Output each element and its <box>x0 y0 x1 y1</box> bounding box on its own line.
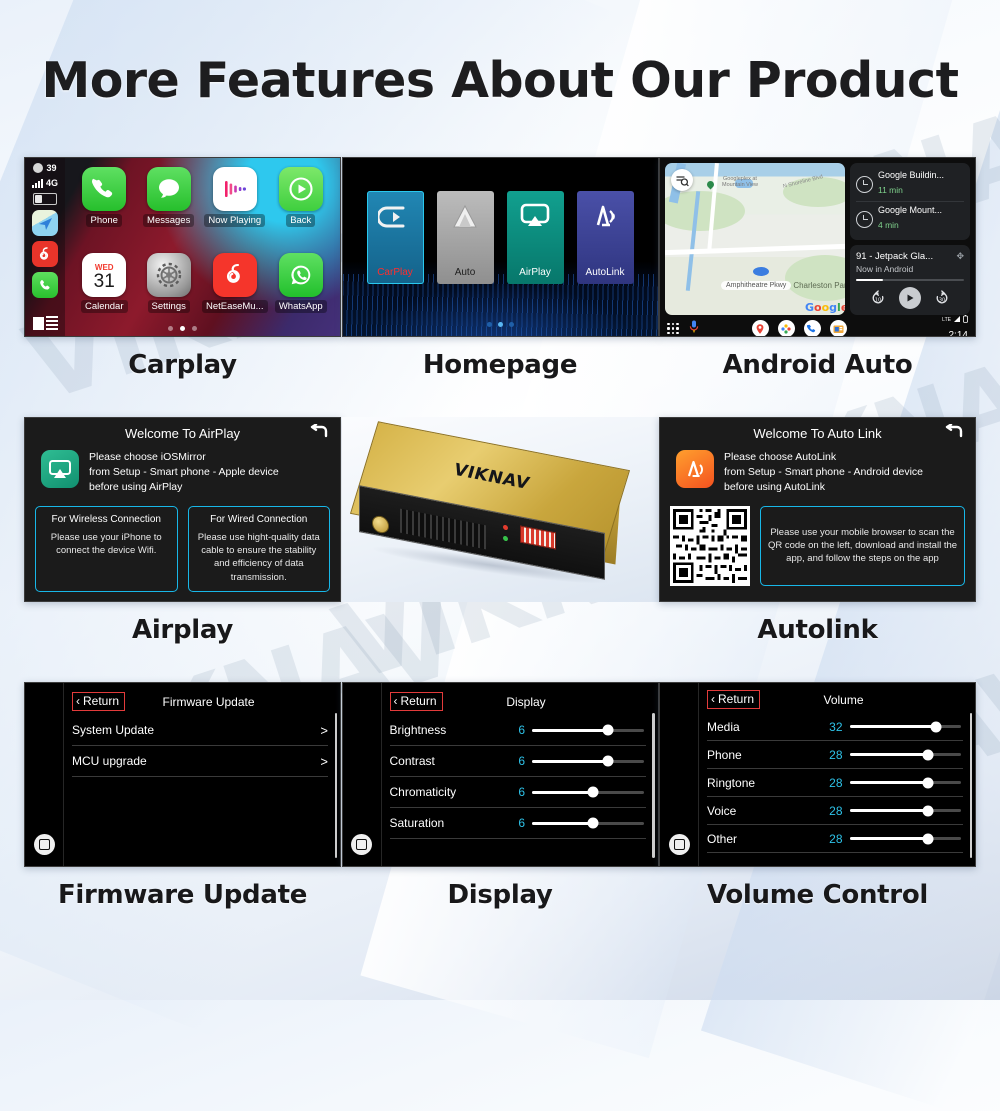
suggestion-title: Google Mount... <box>878 205 956 215</box>
expand-icon[interactable]: ✥ <box>956 251 964 262</box>
map-view[interactable]: Googleplex at Mountain View N Shoreline … <box>665 163 845 315</box>
tile-label: AirPlay <box>507 263 564 284</box>
item-label: Chromaticity <box>390 785 502 799</box>
caption-volume: Volume Control <box>659 880 976 910</box>
google-logo: Google <box>805 301 845 314</box>
item-label: Brightness <box>390 723 502 737</box>
box-text: Please use hight-quality data cable to e… <box>195 531 324 584</box>
feature-cell-display: ‹ Return Display Brightness 6 Contrast <box>342 682 659 910</box>
suggestion-item[interactable]: Google Mount... 4 min <box>856 201 964 236</box>
media-subtitle: Now in Android <box>856 264 964 274</box>
mic-icon[interactable] <box>688 319 700 338</box>
carplay-icon <box>378 202 412 232</box>
screen-title: Firmware Update <box>125 695 292 709</box>
item-value: 6 <box>501 816 525 830</box>
tile-label: CarPlay <box>367 263 424 284</box>
phone-volume-slider[interactable] <box>850 753 962 756</box>
feature-cell-autolink: Welcome To Auto Link Please choose AutoL… <box>659 417 976 645</box>
box-text: Please use your mobile browser to scan t… <box>767 526 958 566</box>
homepage-screen[interactable]: CarPlay Auto <box>342 157 659 337</box>
media-progress-bar[interactable] <box>856 279 964 281</box>
box-text: Please use your iPhone to connect the de… <box>42 531 171 558</box>
battery-icon <box>33 193 57 205</box>
page-indicator <box>25 326 340 331</box>
feature-row-2: Welcome To AirPlay Please choose iOSMirr… <box>0 417 1000 645</box>
saturation-slider[interactable] <box>532 822 644 825</box>
list-item[interactable]: System Update > <box>72 715 328 746</box>
scrollbar[interactable] <box>970 713 973 858</box>
carplay-app-calendar[interactable]: WED 31 Calendar <box>73 253 135 337</box>
item-label: Other <box>707 832 819 846</box>
return-button[interactable]: ‹ Return <box>72 692 125 711</box>
item-value: 6 <box>501 754 525 768</box>
return-button[interactable]: ‹ Return <box>707 690 760 709</box>
assistant-icon[interactable] <box>778 320 795 337</box>
home-button[interactable] <box>351 834 372 855</box>
qr-code <box>670 506 750 586</box>
airplay-instructions: Please choose iOSMirror from Setup - Sma… <box>89 450 279 495</box>
item-value: 28 <box>819 776 843 790</box>
firmware-screen[interactable]: ‹ Return Firmware Update System Update >… <box>24 682 341 867</box>
maps-icon[interactable] <box>32 210 58 236</box>
slider-row[interactable]: Media 32 <box>707 713 963 741</box>
suggestion-card[interactable]: Google Buildin... 11 min Google Mount...… <box>850 163 970 240</box>
android-auto-icon <box>449 202 481 232</box>
battery-icon <box>963 315 968 325</box>
tile-carplay[interactable]: CarPlay <box>367 191 424 284</box>
box-heading: For Wired Connection <box>195 514 324 525</box>
carplay-app-now-playing[interactable]: Now Playing <box>202 167 268 251</box>
feature-cell-carplay: 39 4G <box>24 157 341 380</box>
chromaticity-slider[interactable] <box>532 791 644 794</box>
app-label: Settings <box>148 300 190 313</box>
clock-icon <box>856 176 873 193</box>
chevron-right-icon: > <box>320 723 328 738</box>
item-label: MCU upgrade <box>72 754 320 768</box>
autolink-instructions: Please choose AutoLink from Setup - Smar… <box>724 450 923 495</box>
autolink-icon <box>588 202 622 230</box>
map-street-label: Amphitheatre Pkwy <box>721 281 791 290</box>
media-volume-slider[interactable] <box>850 725 962 728</box>
item-label: Ringtone <box>707 776 819 790</box>
suggestion-eta: 4 min <box>878 220 899 230</box>
item-value: 28 <box>819 832 843 846</box>
return-label: Return <box>83 694 119 708</box>
feature-cell-homepage: CarPlay Auto <box>342 157 659 380</box>
app-label: Now Playing <box>204 214 265 227</box>
airplay-icon <box>41 450 79 488</box>
messages-icon <box>147 167 191 211</box>
slider-row[interactable]: Brightness 6 <box>390 715 646 746</box>
feature-cell-android-auto: Googleplex at Mountain View N Shoreline … <box>659 157 976 380</box>
slider-row[interactable]: Phone 28 <box>707 741 963 769</box>
chevron-left-icon: ‹ <box>711 692 715 706</box>
tile-label: AutoLink <box>577 263 634 284</box>
chevron-left-icon: ‹ <box>394 694 398 708</box>
item-label: Voice <box>707 804 819 818</box>
autolink-screen[interactable]: Welcome To Auto Link Please choose AutoL… <box>659 417 976 602</box>
rewind-10-icon[interactable]: 10 <box>870 290 886 306</box>
now-playing-icon <box>213 167 257 211</box>
chevron-left-icon: ‹ <box>76 694 80 708</box>
voice-volume-slider[interactable] <box>850 809 962 812</box>
network-label: LTE <box>942 317 951 323</box>
map-poi-label: Googleplex at Mountain View <box>711 176 769 189</box>
svg-text:10: 10 <box>875 297 881 303</box>
app-label: Back <box>286 214 315 227</box>
svg-text:30: 30 <box>939 297 945 303</box>
item-label: Media <box>707 720 819 734</box>
slider-row[interactable]: Saturation 6 <box>390 808 646 839</box>
box-heading: For Wireless Connection <box>42 514 171 525</box>
carplay-app-back[interactable]: Back <box>270 167 332 251</box>
signal-icon <box>32 179 43 188</box>
wireless-connection-box: For Wireless Connection Please use your … <box>35 506 178 592</box>
return-label: Return <box>401 694 437 708</box>
forward-30-icon[interactable]: 30 <box>934 290 950 306</box>
android-auto-screen[interactable]: Googleplex at Mountain View N Shoreline … <box>659 157 976 337</box>
item-label: Contrast <box>390 754 502 768</box>
carplay-app-whatsapp[interactable]: WhatsApp <box>270 253 332 337</box>
return-label: Return <box>718 692 754 706</box>
product-photo: VIKNAV <box>342 417 659 602</box>
feature-row-3: ‹ Return Firmware Update System Update >… <box>0 682 1000 910</box>
whatsapp-icon <box>279 253 323 297</box>
autolink-icon <box>676 450 714 488</box>
phone-icon[interactable] <box>32 272 58 298</box>
slider-row[interactable]: Chromaticity 6 <box>390 777 646 808</box>
tile-autolink[interactable]: AutoLink <box>577 191 634 284</box>
list-item[interactable]: MCU upgrade > <box>72 746 328 777</box>
carplay-clock: 39 <box>46 163 56 173</box>
brightness-slider[interactable] <box>532 729 644 732</box>
autolink-title: Welcome To Auto Link <box>753 426 881 441</box>
item-value: 28 <box>819 748 843 762</box>
item-value: 32 <box>819 720 843 734</box>
home-button[interactable] <box>34 834 55 855</box>
chevron-right-icon: > <box>320 754 328 769</box>
item-label: Saturation <box>390 816 502 830</box>
carplay-statusbar: 39 <box>33 163 56 173</box>
phone-icon <box>82 167 126 211</box>
scrollbar[interactable] <box>652 713 655 858</box>
airplay-header: Welcome To AirPlay <box>35 426 330 441</box>
phone-icon[interactable] <box>804 320 821 337</box>
return-button[interactable]: ‹ Return <box>390 692 443 711</box>
clock-icon <box>33 163 43 173</box>
android-auto-taskbar: LTE 2:14 <box>660 315 975 337</box>
netease-music-icon[interactable] <box>32 241 58 267</box>
news-icon[interactable] <box>830 320 847 337</box>
volume-screen[interactable]: ‹ Return Volume Media 32 Phone 2 <box>659 682 976 867</box>
current-location-marker <box>753 267 769 276</box>
settings-icon <box>147 253 191 297</box>
tile-label: Auto <box>437 263 494 284</box>
app-label: Phone <box>86 214 121 227</box>
page-title: More Features About Our Product <box>0 52 1000 109</box>
other-volume-slider[interactable] <box>850 837 962 840</box>
app-label: NetEaseMu... <box>202 300 268 313</box>
carplay-app-netease[interactable]: NetEaseMu... <box>202 253 268 337</box>
suggestion-title: Google Buildin... <box>878 170 956 180</box>
autolink-info-box: Please use your mobile browser to scan t… <box>760 506 965 586</box>
slider-row[interactable]: Other 28 <box>707 825 963 853</box>
feature-cell-firmware: ‹ Return Firmware Update System Update >… <box>24 682 341 910</box>
netease-music-icon <box>213 253 257 297</box>
slider-row[interactable]: Ringtone 28 <box>707 769 963 797</box>
autolink-header: Welcome To Auto Link <box>670 426 965 441</box>
caption-airplay: Airplay <box>24 615 341 645</box>
caption-autolink: Autolink <box>659 615 976 645</box>
back-icon[interactable] <box>944 424 963 443</box>
slider-row[interactable]: Contrast 6 <box>390 746 646 777</box>
taskbar-clock: 2:14 <box>949 330 968 338</box>
carplay-app-messages[interactable]: Messages <box>137 167 199 251</box>
caption-carplay: Carplay <box>24 350 341 380</box>
item-label: System Update <box>72 723 320 737</box>
app-launcher-icon[interactable] <box>667 323 679 335</box>
carplay-network-label: 4G <box>46 178 58 188</box>
carplay-app-settings[interactable]: Settings <box>137 253 199 337</box>
item-value: 28 <box>819 804 843 818</box>
carplay-network: 4G <box>32 178 58 188</box>
signal-icon <box>953 315 961 325</box>
app-label: Messages <box>143 214 194 227</box>
wired-connection-box: For Wired Connection Please use hight-qu… <box>188 506 331 592</box>
carplay-app-grid: Phone Messages <box>65 158 340 336</box>
item-label: Phone <box>707 748 819 762</box>
search-icon[interactable] <box>671 169 693 191</box>
app-label: WhatsApp <box>275 300 327 313</box>
carplay-app-phone[interactable]: Phone <box>73 167 135 251</box>
feature-cell-product: VIKNAV <box>342 417 659 645</box>
airplay-icon <box>519 202 551 230</box>
homepage-tiles: CarPlay Auto <box>343 191 658 284</box>
system-status: LTE 2:14 <box>942 315 968 338</box>
caption-firmware: Firmware Update <box>24 880 341 910</box>
feature-cell-airplay: Welcome To AirPlay Please choose iOSMirr… <box>24 417 341 645</box>
ringtone-volume-slider[interactable] <box>850 781 962 784</box>
feature-cell-volume: ‹ Return Volume Media 32 Phone 2 <box>659 682 976 910</box>
screen-title: Display <box>443 695 610 709</box>
item-value: 6 <box>501 723 525 737</box>
feature-grid: 39 4G <box>0 157 1000 910</box>
feature-row-1: 39 4G <box>0 157 1000 380</box>
carplay-sidebar[interactable]: 39 4G <box>25 158 65 336</box>
carplay-screen[interactable]: 39 4G <box>24 157 341 337</box>
display-screen[interactable]: ‹ Return Display Brightness 6 Contrast <box>342 682 659 867</box>
caption-homepage: Homepage <box>342 350 659 380</box>
back-icon <box>279 167 323 211</box>
caption-display: Display <box>342 880 659 910</box>
media-title: 91 - Jetpack Gla... <box>856 251 964 262</box>
maps-icon[interactable] <box>752 320 769 337</box>
airplay-title: Welcome To AirPlay <box>125 426 240 441</box>
clock-icon <box>856 211 873 228</box>
tile-auto[interactable]: Auto <box>437 191 494 284</box>
slider-row[interactable]: Voice 28 <box>707 797 963 825</box>
item-value: 6 <box>501 785 525 799</box>
media-card[interactable]: 91 - Jetpack Gla... Now in Android 10 <box>850 245 970 315</box>
back-icon[interactable] <box>309 424 328 443</box>
tile-airplay[interactable]: AirPlay <box>507 191 564 284</box>
contrast-slider[interactable] <box>532 760 644 763</box>
app-label: Calendar <box>81 300 128 313</box>
suggestion-item[interactable]: Google Buildin... 11 min <box>856 167 964 201</box>
airplay-screen[interactable]: Welcome To AirPlay Please choose iOSMirr… <box>24 417 341 602</box>
home-button[interactable] <box>669 834 690 855</box>
screen-title: Volume <box>760 693 927 707</box>
suggestion-eta: 11 min <box>878 185 903 195</box>
caption-android-auto: Android Auto <box>659 350 976 380</box>
map-park-label: Charleston Park <box>793 281 845 290</box>
scrollbar[interactable] <box>335 713 338 858</box>
calendar-icon: WED 31 <box>82 253 126 297</box>
calendar-date: 31 <box>94 272 115 291</box>
play-button[interactable] <box>899 287 921 309</box>
page-indicator <box>343 322 658 327</box>
